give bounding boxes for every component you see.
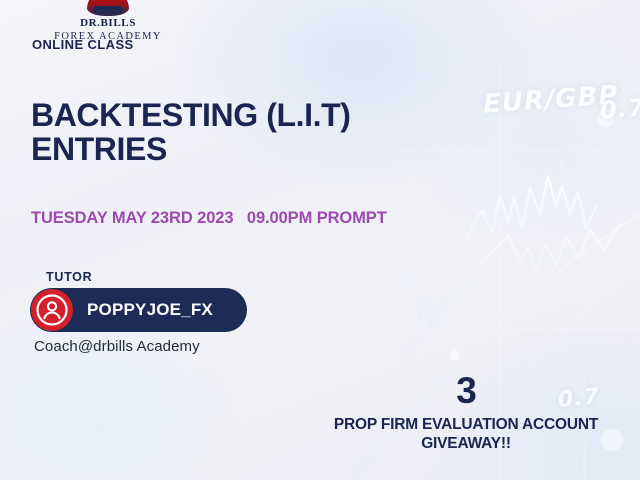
- tutor-label: TUTOR: [46, 270, 92, 284]
- user-avatar-icon: [31, 289, 73, 331]
- schedule-text: TUESDAY MAY 23RD 2023 09.00PM PROMPT: [31, 209, 387, 228]
- giveaway-line-2: GIVEAWAY!!: [300, 434, 632, 453]
- headline-line-1: BACKTESTING (L.I.T): [31, 99, 451, 133]
- tutor-affiliation: Coach@drbills Academy: [34, 338, 200, 355]
- headline-line-2: ENTRIES: [31, 133, 451, 167]
- tutor-handle: POPPYJOE_FX: [87, 300, 213, 320]
- dr-bills-emblem-icon: [87, 0, 129, 16]
- brand-name: DR.BILLS: [34, 17, 182, 29]
- page-title: BACKTESTING (L.I.T) ENTRIES: [31, 99, 451, 166]
- watermark-rate: 0.7: [599, 93, 640, 124]
- giveaway-description: PROP FIRM EVALUATION ACCOUNT GIVEAWAY!!: [300, 415, 632, 454]
- giveaway-block: 3 PROP FIRM EVALUATION ACCOUNT GIVEAWAY!…: [300, 372, 632, 454]
- tutor-badge: POPPYJOE_FX: [30, 288, 247, 332]
- brand-logo: DR.BILLS FOREX ACADEMY: [34, 0, 182, 42]
- giveaway-line-1: PROP FIRM EVALUATION ACCOUNT: [300, 415, 632, 434]
- giveaway-count: 3: [300, 372, 632, 409]
- eyebrow-label: ONLINE CLASS: [32, 37, 134, 52]
- watermark-currency-pair: EUR/GBP: [482, 80, 619, 119]
- promo-poster: EUR/GBP 0.7 0.7 DR.BILLS FOREX ACADEMY O…: [0, 0, 640, 480]
